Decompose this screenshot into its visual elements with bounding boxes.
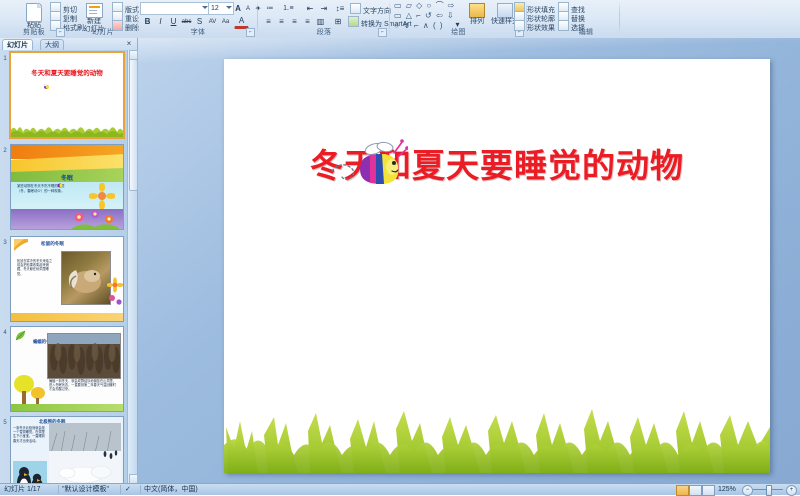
thumbnail-number: 2 xyxy=(1,148,9,155)
columns-button[interactable]: ▥ xyxy=(313,15,328,29)
text-direction-icon xyxy=(350,3,361,14)
increase-indent-button[interactable]: ⇥ xyxy=(316,2,332,16)
bats-photo xyxy=(48,334,120,378)
tab-slides-label: 幻灯片 xyxy=(7,42,28,49)
flowers-icon xyxy=(71,207,119,229)
status-bar: 幻灯片 1/17 "默认设计模板" ✓ 中文(简体，中国) 125% − + xyxy=(0,483,800,495)
thumbnail-number: 3 xyxy=(1,240,9,247)
thumbnail-list[interactable]: 1 冬天和夏天要睡觉的动物 2 xyxy=(0,50,128,484)
thumbnail-title: 松鼠的冬眠 xyxy=(41,241,64,247)
arrange-label: 排列 xyxy=(464,18,490,26)
spellcheck-icon[interactable]: ✓ xyxy=(125,484,131,495)
shapes-gallery[interactable]: ▭ ▱ ◇ ○ ⌒ ⇨ xyxy=(394,1,456,10)
shape-effects-label: 形状效果 xyxy=(527,25,555,32)
bee-icon xyxy=(55,181,64,189)
tree-icon xyxy=(13,373,47,407)
numbering-button[interactable]: ⒈≡ xyxy=(279,2,297,16)
thumbnail-slide-5[interactable]: 北极熊的冬眠 一到冬天北极熊就会找一个雪洞睡觉，在洞里生下小宝宝，一直睡到春天才… xyxy=(10,416,124,484)
paragraph-dialog-launcher[interactable]: ⌐ xyxy=(378,28,387,37)
slide-editing-area[interactable]: 冬天和夏天要睡觉的动物 xyxy=(138,38,800,484)
zoom-out-button[interactable]: − xyxy=(742,485,753,496)
align-text-button[interactable]: ⊞ xyxy=(330,15,346,29)
font-name-combo[interactable] xyxy=(140,2,210,15)
thumbnail-number: 4 xyxy=(1,330,9,337)
list-item[interactable]: 3 松鼠的冬眠 松鼠在寒冷的冬天来临之前会把松果收集起来储藏，冬天躲在树洞里睡觉… xyxy=(0,234,128,324)
thumbnail-slide-1[interactable]: 冬天和夏天要睡觉的动物 xyxy=(9,51,125,139)
bottom-bar xyxy=(11,404,123,411)
thumbnail-photo-bats xyxy=(47,333,121,379)
smartart-icon xyxy=(348,16,359,27)
group-label-paragraph: 段落 xyxy=(258,28,390,38)
close-pane-button[interactable]: × xyxy=(124,39,134,49)
thumbnail-photo-polarbear xyxy=(49,423,121,484)
bee-illustration[interactable] xyxy=(330,137,408,189)
flower-icon xyxy=(107,277,123,307)
text-direction-button[interactable]: 文字方向 xyxy=(350,3,391,16)
design-template-label: "默认设计模板" xyxy=(62,484,109,495)
scrollbar-thumb[interactable] xyxy=(129,59,138,191)
list-item[interactable]: 1 冬天和夏天要睡觉的动物 xyxy=(0,50,128,142)
shape-effects-icon xyxy=(514,20,525,31)
status-divider xyxy=(58,485,59,494)
font-color-button[interactable]: A xyxy=(234,15,249,29)
view-normal-button[interactable] xyxy=(676,485,689,496)
group-label-slides: 幻灯片 xyxy=(68,28,138,38)
status-divider xyxy=(140,485,141,494)
zoom-level-label: 125% xyxy=(718,484,736,495)
ribbon-group-font: 12 A A ✦ B I U abc S AV Aa A 字体 ⌐ xyxy=(138,0,258,38)
paste-icon xyxy=(26,3,42,22)
view-slide-sorter-button[interactable] xyxy=(689,485,702,496)
penguins-icon xyxy=(13,461,47,484)
text-direction-label: 文字方向 xyxy=(363,8,391,15)
slides-pane: 幻灯片 大纲 × 1 冬天和夏天要睡觉的动物 xyxy=(0,38,138,484)
grass-decoration xyxy=(224,401,770,473)
flower-icon xyxy=(89,183,115,209)
list-item[interactable]: 4 蝙蝠的冬眠 xyxy=(0,324,128,414)
new-slide-icon xyxy=(86,3,103,18)
font-size-value: 12 xyxy=(211,5,219,12)
thumbnail-number: 5 xyxy=(1,420,9,427)
ribbon-group-slides: 新建 幻灯片 版式 重设 删除 幻灯片 xyxy=(68,0,138,38)
slides-pane-scrollbar[interactable] xyxy=(127,50,137,484)
view-slideshow-button[interactable] xyxy=(702,485,715,496)
thumbnail-body: 松鼠在寒冷的冬天来临之前会把松果收集起来储藏，冬天躲在树洞里睡觉。 xyxy=(17,259,53,276)
font-size-combo[interactable]: 12 xyxy=(208,2,234,15)
current-slide[interactable]: 冬天和夏天要睡觉的动物 xyxy=(224,59,770,473)
bullets-button[interactable]: ≔ xyxy=(261,2,279,16)
language-label[interactable]: 中文(简体，中国) xyxy=(144,484,198,495)
slide-counter: 幻灯片 1/17 xyxy=(4,484,41,495)
ribbon: 粘贴 剪切 复制 格式刷 剪贴板 ⌐ 新建 幻灯片 版式 重设 删除 幻灯片 xyxy=(0,0,800,39)
ribbon-group-editing: 查找 替换 选择 编辑 xyxy=(552,0,620,38)
bee-icon xyxy=(41,83,50,90)
group-label-font: 字体 xyxy=(138,28,258,38)
polarbear-photo xyxy=(49,423,121,484)
thumbnail-slide-4[interactable]: 蝙蝠的冬眠 xyxy=(10,326,124,412)
bottom-bar xyxy=(11,313,123,321)
shapes-gallery-row2[interactable]: ▭ △ ⌐ ↺ ⇦ ⇩ xyxy=(394,11,455,20)
thumbnail-photo-squirrel xyxy=(61,251,111,305)
arrange-icon xyxy=(469,3,485,18)
thumbnail-body: 一到冬天北极熊就会找一个雪洞睡觉，在洞里生下小宝宝，一直睡到春天才出来活动。 xyxy=(13,426,47,443)
thumbnail-title: 冬天和夏天要睡觉的动物 xyxy=(17,69,117,77)
status-divider xyxy=(120,485,121,494)
thumbnail-slide-2[interactable]: 冬眠 某些动物在冬天不吃不喝的睡觉（冬、春眠动少）的一种现象。 xyxy=(10,144,124,230)
change-case-button[interactable]: Aa xyxy=(218,15,233,29)
leaf-icon xyxy=(15,330,27,341)
thumbnail-slide-3[interactable]: 松鼠的冬眠 松鼠在寒冷的冬天来临之前会把松果收集起来储藏，冬天躲在树洞里睡觉。 xyxy=(10,236,124,322)
zoom-in-button[interactable]: + xyxy=(786,485,797,496)
ribbon-group-clipboard: 粘贴 剪切 复制 格式刷 剪贴板 ⌐ xyxy=(0,0,68,38)
thumbnail-body: 蝙蝠一到冬天，就会成群结队地倒挂在山洞里，进入冬眠状态，一直要到第二年春天气温回… xyxy=(49,379,117,392)
squirrel-photo xyxy=(62,252,110,304)
group-separator xyxy=(619,1,620,35)
clipboard-dialog-launcher[interactable]: ⌐ xyxy=(56,28,65,37)
list-item[interactable]: 5 北极熊的冬眠 一到冬天北极熊就会找一个雪洞睡觉，在洞里生下小宝宝，一直睡到春… xyxy=(0,414,128,484)
tab-outline-label: 大纲 xyxy=(45,42,59,49)
ribbon-group-drawing-extra: 形状填充 形状轮廓 形状效果 xyxy=(490,0,550,38)
zoom-slider-handle[interactable] xyxy=(766,485,772,496)
slide-title[interactable]: 冬天和夏天要睡觉的动物 xyxy=(224,139,770,187)
grass-decoration xyxy=(11,121,123,137)
ribbon-group-paragraph: ≔ ⒈≡ ⇤ ⇥ ↕≡ 文字方向 ≡ ≡ ≡ ≡ ▥ ⊞ 转换为 SmartAr… xyxy=(258,0,390,38)
font-dialog-launcher[interactable]: ⌐ xyxy=(246,28,255,37)
list-item[interactable]: 2 冬眠 某些动物在冬天不吃不喝的睡觉（冬、春眠动少）的一种现象。 xyxy=(0,142,128,234)
thumbnail-number: 1 xyxy=(1,56,9,63)
line-spacing-button[interactable]: ↕≡ xyxy=(332,2,348,16)
ribbon-corner-icon xyxy=(14,239,28,251)
thumbnail-title: 冬眠 xyxy=(11,173,123,182)
shape-effects-row[interactable]: 形状效果 xyxy=(514,20,555,33)
group-label-editing: 编辑 xyxy=(552,28,620,38)
